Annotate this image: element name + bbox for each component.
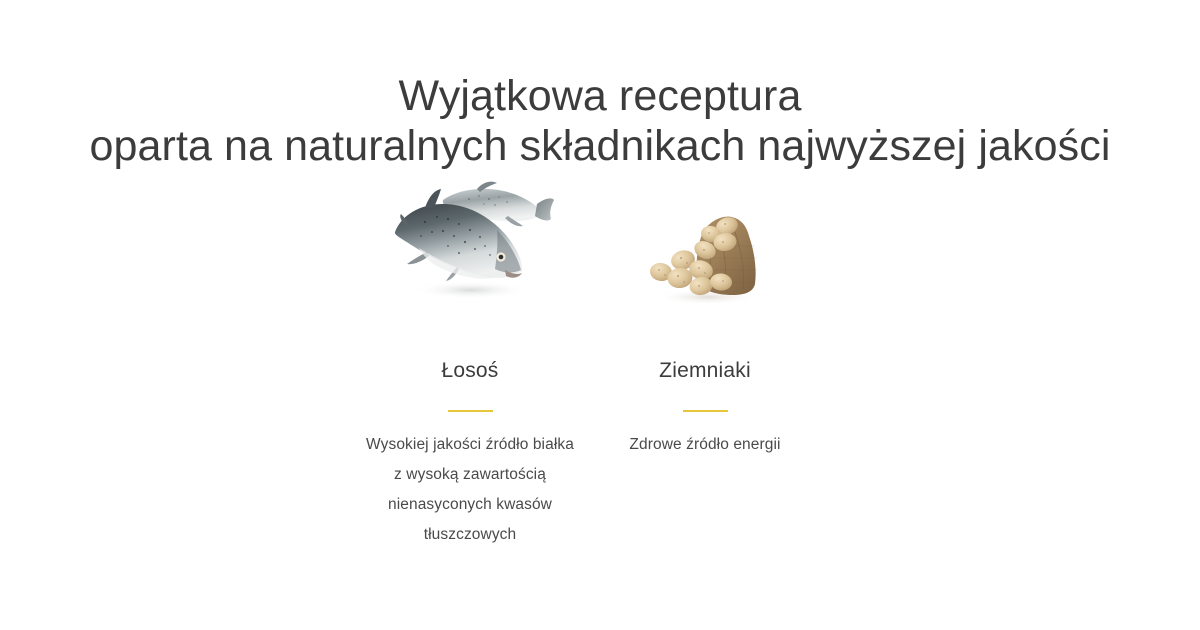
ingredient-divider-salmon xyxy=(448,410,493,412)
page-title-line-2: oparta na naturalnych składnikach najwyż… xyxy=(0,121,1200,171)
potato-sack-photo xyxy=(635,198,775,308)
ingredient-card-salmon: Łosoś Wysokiej jakości źródło białka z w… xyxy=(350,170,590,550)
ingredient-divider-potatoes xyxy=(683,410,728,412)
page-title-line-1: Wyjątkowa receptura xyxy=(0,71,1200,121)
page-title: Wyjątkowa receptura oparta na naturalnyc… xyxy=(0,71,1200,171)
ingredient-card-potatoes: Ziemniaki Zdrowe źródło energii xyxy=(585,170,825,460)
promo-page: Wyjątkowa receptura oparta na naturalnyc… xyxy=(0,0,1200,630)
ingredient-description-potatoes: Zdrowe źródło energii xyxy=(585,430,825,460)
salmon-figure xyxy=(350,170,590,330)
ingredients-list: Łosoś Wysokiej jakości źródło białka z w… xyxy=(0,170,1200,610)
salmon-fish-photo xyxy=(385,170,555,310)
ingredient-title-salmon: Łosoś xyxy=(350,358,590,384)
ingredient-title-potatoes: Ziemniaki xyxy=(585,358,825,384)
potato-figure xyxy=(585,170,825,330)
ingredient-description-salmon: Wysokiej jakości źródło białka z wysoką … xyxy=(350,430,590,550)
